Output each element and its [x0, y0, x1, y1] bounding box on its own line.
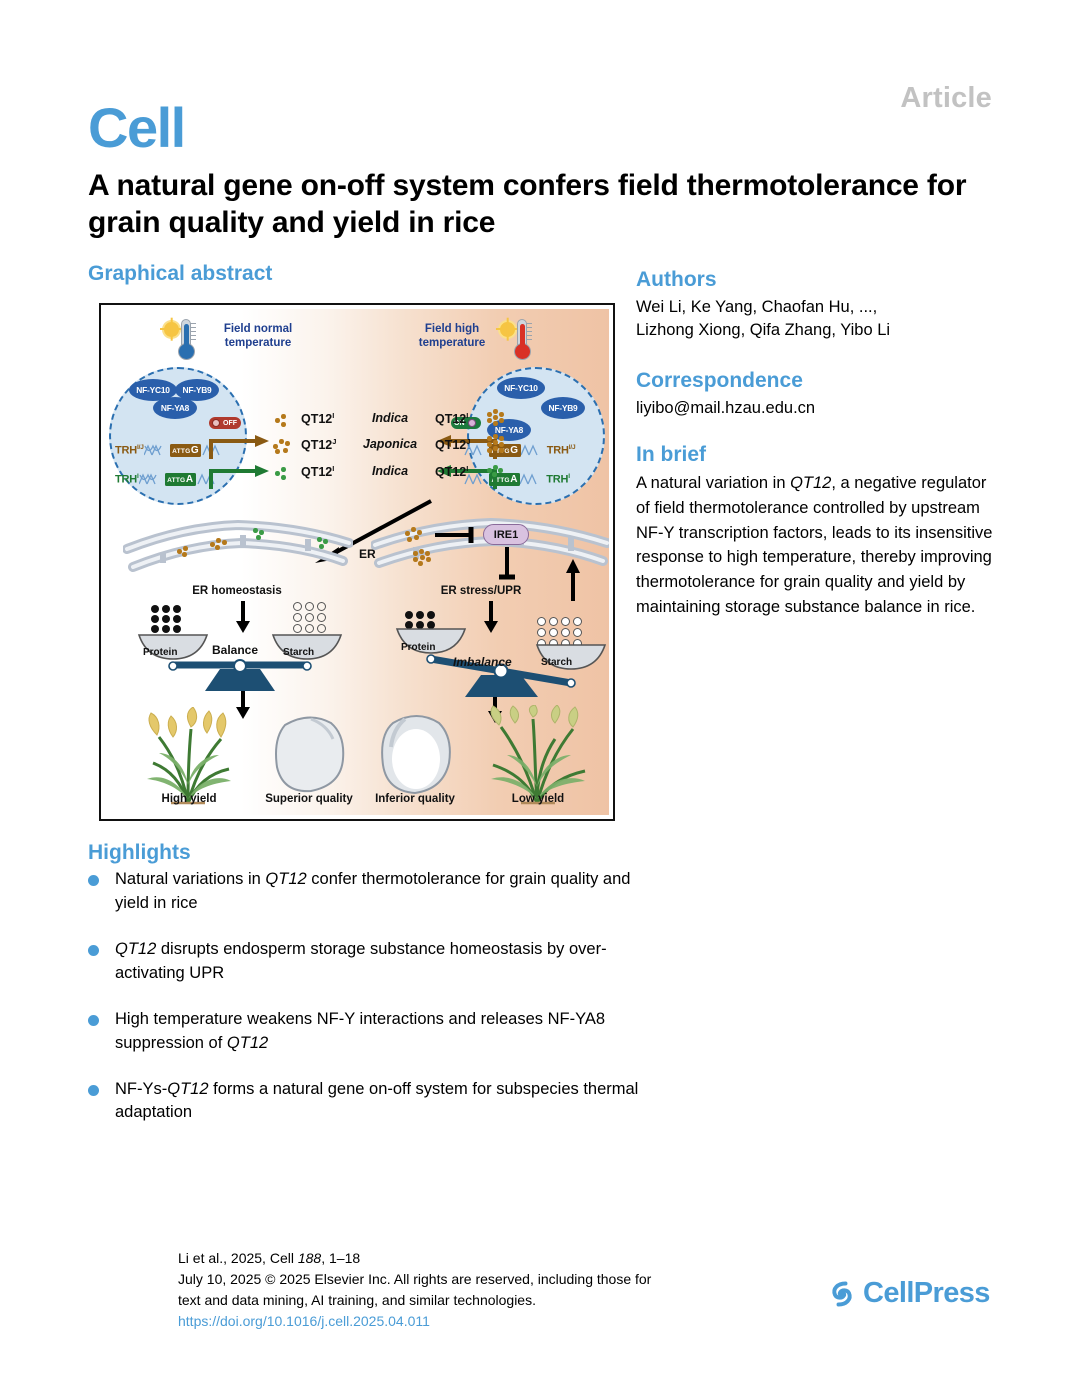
- pan-label-starch-left: Starch: [283, 647, 314, 658]
- authors-heading: Authors: [636, 268, 717, 292]
- er-cargo-dots-left-1: [177, 546, 193, 556]
- up-arrow-starch: [565, 559, 581, 601]
- er-cargo-dots-right-2: [413, 549, 437, 567]
- thermometer-hot-icon: [511, 319, 531, 363]
- trh-label-right-green: TRHI: [546, 473, 570, 486]
- transcription-arrow-left-green: [209, 465, 273, 491]
- gene-label-row2-right: QT12J: [435, 437, 470, 452]
- outcome-low-yield-label: Low yield: [483, 793, 593, 805]
- graphical-abstract-canvas: Field normal temperature Field high temp…: [105, 309, 609, 815]
- down-arrow-left-balance: [235, 601, 251, 633]
- dna-wave-icon: [144, 444, 170, 457]
- dna-wave-icon: [520, 473, 546, 486]
- gene-label-row3-right: QT12I: [435, 464, 468, 479]
- footer-citation: Li et al., 2025, Cell 188, 1–18 July 10,…: [178, 1248, 878, 1332]
- left-condition-label: Field normal temperature: [203, 323, 313, 350]
- er-membrane-left: [123, 519, 353, 579]
- trh-label-right-brown: TRHI/J: [547, 444, 576, 457]
- outcome-high-yield-label: High yield: [135, 793, 243, 805]
- highlights-list: Natural variations in QT12 confer thermo…: [88, 868, 648, 1147]
- protein-dots-right-row2: [487, 434, 509, 456]
- inhibition-arrow-downstream: [497, 547, 517, 583]
- er-stress-label: ER stress/UPR: [405, 585, 557, 597]
- highlights-heading: Highlights: [88, 841, 191, 865]
- bullet-icon: [88, 945, 99, 956]
- cellpress-mark-icon: [828, 1280, 856, 1308]
- grain-inferior-quality: [371, 707, 459, 799]
- motif-attga-left: ATTGA: [165, 473, 196, 486]
- grain-superior-quality: [265, 709, 353, 797]
- in-brief-heading: In brief: [636, 443, 706, 467]
- citation-pages: , 1–18: [321, 1250, 360, 1266]
- trh-label-left-brown: TRHI/J: [115, 444, 144, 457]
- authors-list: Wei Li, Ke Yang, Chaofan Hu, ..., Lizhon…: [636, 296, 996, 343]
- pan-label-starch-right: Starch: [541, 657, 572, 668]
- gene-label-row1-left: QT12I: [301, 411, 334, 426]
- in-brief-text: A natural variation in QT12, a negative …: [636, 471, 1001, 620]
- outcome-superior-quality-label: Superior quality: [251, 793, 367, 805]
- highlight-item: Natural variations in QT12 confer thermo…: [88, 868, 648, 916]
- ire1-node: IRE1: [483, 524, 529, 545]
- rice-plant-high-yield: [133, 707, 243, 807]
- highlight-text: NF-Ys-QT12 forms a natural gene on-off s…: [115, 1078, 648, 1126]
- pan-label-protein-right: Protein: [401, 642, 435, 653]
- authors-line-2: Lizhong Xiong, Qifa Zhang, Yibo Li: [636, 321, 890, 339]
- outcome-inferior-quality-label: Inferior quality: [359, 793, 471, 805]
- highlight-text: Natural variations in QT12 confer thermo…: [115, 868, 648, 916]
- er-cargo-dots-right-1: [405, 527, 427, 543]
- er-cargo-dots-left-2: [210, 538, 230, 550]
- authors-line-1: Wei Li, Ke Yang, Chaofan Hu, ...,: [636, 298, 877, 316]
- gene-label-row3-left: QT12I: [301, 464, 334, 479]
- highlight-text: High temperature weakens NF-Y interactio…: [115, 1008, 648, 1056]
- highlight-item: NF-Ys-QT12 forms a natural gene on-off s…: [88, 1078, 648, 1126]
- dna-wave-icon: [521, 444, 547, 457]
- journal-logo: Cell: [88, 100, 185, 156]
- citation-prefix: Li et al., 2025, Cell: [178, 1250, 298, 1266]
- nf-yb9-right: NF-YB9: [541, 397, 585, 419]
- protein-dots-left-row3: [275, 467, 293, 481]
- cellpress-logo: CellPress: [828, 1279, 990, 1308]
- page-title: A natural gene on-off system confers fie…: [88, 168, 968, 241]
- dna-wave-icon: [139, 473, 165, 486]
- cellpress-wordmark: CellPress: [863, 1279, 990, 1308]
- protein-granules-left: [151, 605, 191, 633]
- protein-dots-right-row3: [487, 465, 505, 479]
- copyright-line-2: text and data mining, AI training, and s…: [178, 1290, 878, 1311]
- er-cargo-dots-left-4: [317, 537, 333, 549]
- thermometer-cold-icon: [175, 319, 195, 363]
- graphical-abstract-figure: Field normal temperature Field high temp…: [99, 303, 615, 821]
- nf-ya8-left: NF-YA8: [153, 397, 197, 419]
- highlight-item: High temperature weakens NF-Y interactio…: [88, 1008, 648, 1056]
- citation-volume: 188: [298, 1250, 321, 1266]
- right-condition-label: Field high temperature: [397, 323, 507, 350]
- protein-dots-right-row1: [487, 409, 509, 429]
- dna-row-trh-i-left: TRHI ATTGA: [115, 472, 222, 486]
- pan-label-protein-left: Protein: [143, 647, 177, 658]
- highlight-item: QT12 disrupts endosperm storage substanc…: [88, 938, 648, 986]
- cover-page: Article Cell A natural gene on-off syste…: [0, 0, 1080, 1397]
- imbalance-word: Imbalance: [453, 655, 512, 669]
- balance-word: Balance: [212, 643, 258, 657]
- starch-granules-left: [293, 602, 335, 632]
- er-cargo-dots-left-3: [253, 528, 269, 540]
- copyright-line-1: July 10, 2025 © 2025 Elsevier Inc. All r…: [178, 1269, 878, 1290]
- er-homeostasis-label: ER homeostasis: [157, 585, 317, 597]
- inhibition-bar-ire1: [435, 527, 481, 543]
- bullet-icon: [88, 1085, 99, 1096]
- bullet-icon: [88, 1015, 99, 1026]
- balance-scale-left: [135, 633, 345, 691]
- species-label-row2: Japonica: [353, 437, 427, 451]
- doi-link[interactable]: https://doi.org/10.1016/j.cell.2025.04.0…: [178, 1311, 878, 1332]
- citation-line: Li et al., 2025, Cell 188, 1–18: [178, 1248, 878, 1269]
- species-label-row1: Indica: [353, 411, 427, 425]
- correspondence-heading: Correspondence: [636, 369, 803, 393]
- correspondence-email[interactable]: liyibo@mail.hzau.edu.cn: [636, 397, 996, 420]
- rice-plant-low-yield: [477, 705, 597, 807]
- gene-label-row2-left: QT12J: [301, 437, 336, 452]
- bullet-icon: [88, 875, 99, 886]
- switch-off-badge: OFF: [209, 417, 241, 429]
- species-label-row3: Indica: [353, 464, 427, 478]
- trh-label-left-green: TRHI: [115, 473, 139, 486]
- transcription-arrow-left-brown: [209, 435, 273, 461]
- graphical-abstract-heading: Graphical abstract: [88, 262, 272, 286]
- protein-dots-left-row1: [275, 414, 293, 428]
- motif-attgg-left: ATTGG: [170, 444, 202, 457]
- gene-label-row1-right: QT12I: [435, 411, 468, 426]
- nf-yc10-right: NF-YC10: [497, 377, 545, 399]
- protein-dots-left-row2: [273, 439, 295, 455]
- highlight-text: QT12 disrupts endosperm storage substanc…: [115, 938, 648, 986]
